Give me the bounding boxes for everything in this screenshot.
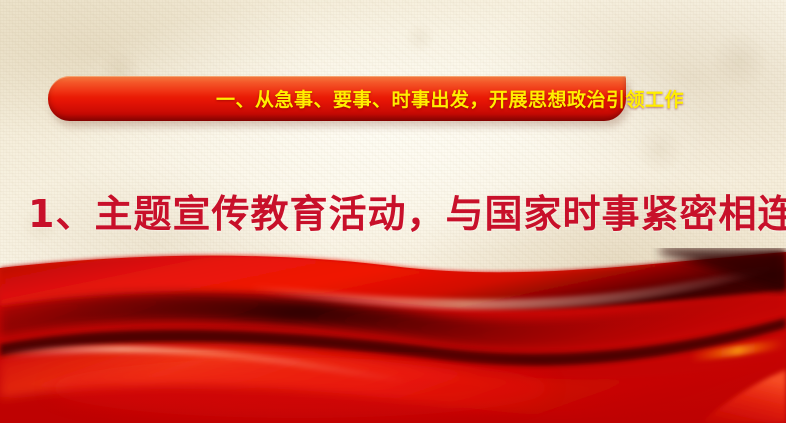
presentation-slide: 一、从急事、要事、时事出发，开展思想政治引领工作 1、主题宣传教育活动，与国家时… <box>0 0 786 423</box>
red-wave-decoration <box>0 248 786 423</box>
wave-center-glow <box>50 358 550 418</box>
section-banner-label: 一、从急事、要事、时事出发，开展思想政治引领工作 <box>48 76 688 121</box>
main-heading: 1、主题宣传教育活动，与国家时事紧密相连 <box>28 183 758 238</box>
